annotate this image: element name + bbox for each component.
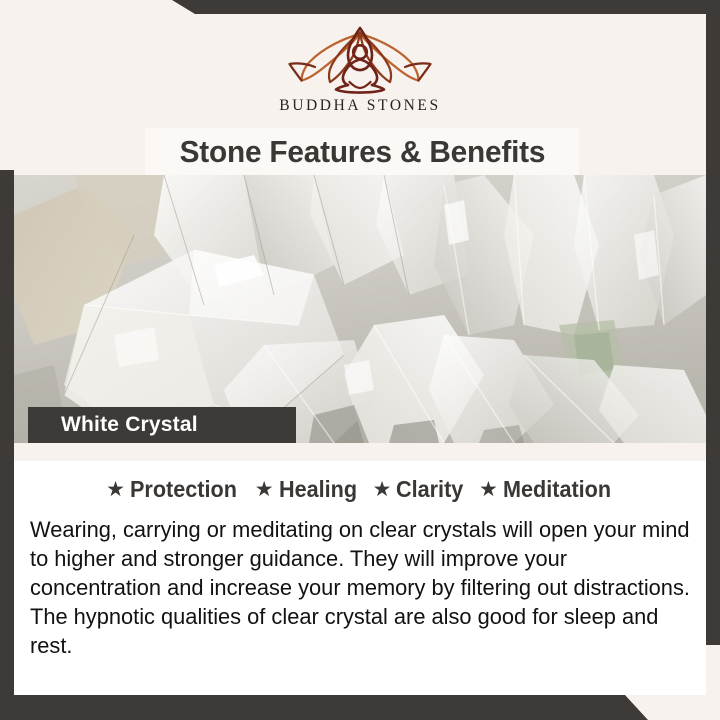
star-icon: ★ [106,479,125,500]
content-panel: ★ Protection ★ Healing ★ Clarity ★ Medit… [14,461,706,695]
page-title: Stone Features & Benefits [179,134,545,170]
title-banner: Stone Features & Benefits [145,128,579,175]
frame-left-bar [0,170,14,695]
cream-divider-strip [14,443,706,461]
frame-top-bar [195,0,720,14]
white-crystal-cluster-photo: White Crystal [14,175,706,443]
frame-bottom-bar [0,695,625,720]
photo-caption-bar: White Crystal [28,407,296,443]
benefit-item-protection: ★ Protection [106,476,244,503]
photo-caption: White Crystal [61,413,198,437]
brand-wordmark: BUDDHA STONES [279,97,440,115]
benefit-item-clarity: ★ Clarity [373,476,468,503]
frame-right-bar [706,0,720,645]
benefit-item-healing: ★ Healing [255,476,362,503]
frame-top-chamfer [172,0,195,14]
lotus-meditation-icon [285,22,435,94]
benefit-label: Clarity [396,476,463,503]
description-text: Wearing, carrying or meditating on clear… [30,515,693,660]
stone-features-card: BUDDHA STONES Stone Features & Benefits [0,0,720,720]
star-icon: ★ [373,479,392,500]
brand-header: BUDDHA STONES [0,0,720,128]
star-icon: ★ [479,479,498,500]
benefit-label: Protection [130,476,237,503]
benefits-row: ★ Protection ★ Healing ★ Clarity ★ Medit… [30,469,694,509]
benefit-item-meditation: ★ Meditation [479,476,618,503]
benefit-label: Meditation [503,476,611,503]
frame-bottom-chamfer [625,695,648,720]
benefit-label: Healing [279,476,357,503]
star-icon: ★ [255,479,274,500]
